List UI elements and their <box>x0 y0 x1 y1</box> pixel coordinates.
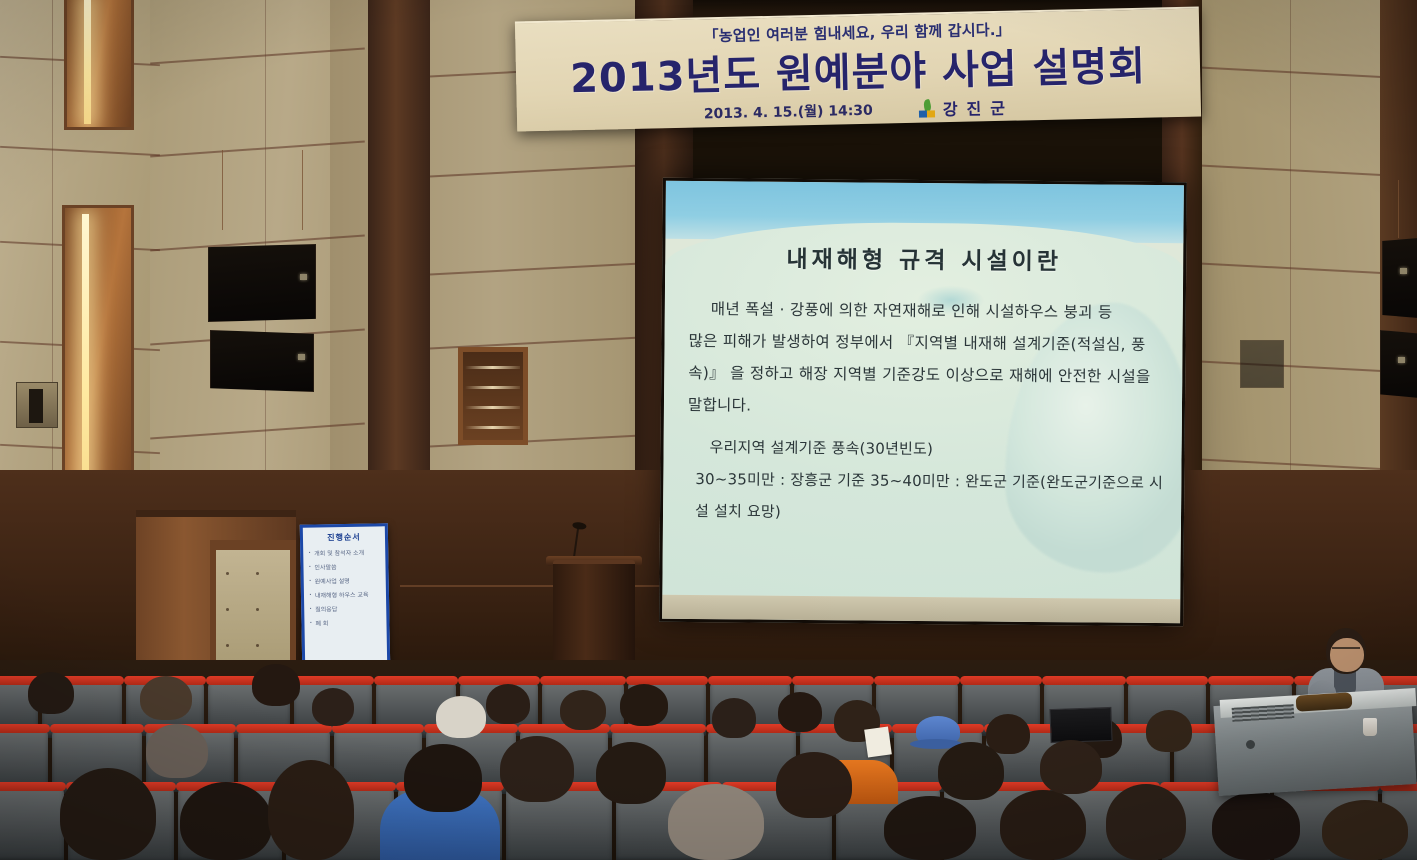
banner-date: 2013. 4. 15.(월) 14:30 <box>704 100 873 124</box>
audience-head <box>312 688 354 726</box>
wall-speaker-small <box>1240 340 1284 388</box>
rear-monitor <box>1049 707 1112 743</box>
program-board-list: 개회 및 참석자 소개 인사말씀 원예사업 설명 내재해형 하우스 교육 질의응… <box>307 546 382 631</box>
audience-handout-paper <box>864 726 892 757</box>
presenter-glasses <box>1332 647 1360 654</box>
line-array-speaker-left <box>208 244 316 322</box>
program-item: 인사말씀 <box>307 560 381 575</box>
audience-head <box>712 698 756 738</box>
audience-head <box>60 768 156 860</box>
program-board-title: 진행순서 <box>307 531 381 543</box>
paper-cup <box>1363 718 1377 736</box>
slide-title: 내재해형 규격 시설이란 <box>665 239 1183 278</box>
audience-head <box>986 714 1030 754</box>
wall-niche-light-upper <box>64 0 134 130</box>
audience-head <box>268 760 354 860</box>
audience-head <box>1322 800 1408 860</box>
audience-head <box>252 664 300 706</box>
audience-head <box>776 752 852 818</box>
audience-head <box>1040 740 1102 794</box>
audience-blue-cap <box>916 716 960 746</box>
audience-head <box>500 736 574 802</box>
audience-head <box>668 784 764 860</box>
audience-head <box>1000 790 1086 860</box>
audience-head <box>140 676 192 720</box>
wall-louver-vent <box>458 347 528 445</box>
speaker-hanging-wire <box>222 150 223 230</box>
audience-head <box>884 796 976 860</box>
niche-light-strip <box>84 0 91 124</box>
audience-head <box>180 782 272 860</box>
audience-head <box>146 724 208 778</box>
organization-label: 강진군 <box>943 95 1015 121</box>
projection-screen-surface: 내재해형 규격 시설이란 매년 폭설 · 강풍에 의한 자연재해로 인해 시설하… <box>659 178 1187 627</box>
banner-organization: 강진군 <box>919 95 1015 121</box>
program-item: 폐 회 <box>308 616 382 631</box>
gangjin-county-logo-icon <box>919 99 935 117</box>
slide-paragraph-line: 많은 피해가 발생하여 정부에서 『지역별 내재해 설계기준(적설심, <box>688 332 1125 354</box>
program-item: 개회 및 참석자 소개 <box>307 546 381 561</box>
speaker-hanging-wire <box>302 150 303 230</box>
niche-light-strip <box>82 214 89 514</box>
audience-head <box>778 692 822 732</box>
presenter-face <box>1330 638 1364 672</box>
line-array-speaker-left <box>210 330 314 392</box>
podium-knob <box>1246 740 1255 749</box>
audience-head <box>938 742 1004 800</box>
wall-control-box <box>16 382 58 428</box>
audience-head <box>560 690 606 730</box>
audience-head <box>596 742 666 804</box>
podium-items <box>1296 692 1353 711</box>
slide-list-heading: 우리지역 설계기준 풍속(30년빈도) <box>695 431 1165 467</box>
line-array-speaker-right <box>1380 330 1417 400</box>
line-array-speaker-right <box>1382 236 1417 320</box>
audience-head-cap <box>436 696 486 738</box>
program-item: 내재해형 하우스 교육 <box>308 588 382 603</box>
event-banner: 「농업인 여러분 힘내세요, 우리 함께 갑시다.」 2013년도 원예분야 사… <box>515 7 1201 132</box>
auditorium-seminar-photo: 「농업인 여러분 힘내세요, 우리 함께 갑시다.」 2013년도 원예분야 사… <box>0 0 1417 860</box>
audience-head <box>1212 792 1300 860</box>
slide-paragraph: 매년 폭설 · 강풍에 의한 자연재해로 인해 시설하우스 붕괴 등 많은 피해… <box>688 293 1167 425</box>
slide-paragraph-line: 매년 폭설 · 강풍에 의한 자연재해로 인해 시설하우스 붕괴 등 <box>689 293 1167 329</box>
audience-head <box>28 672 74 714</box>
audience-head <box>620 684 668 726</box>
speaker-hanging-wire <box>1398 180 1399 238</box>
slide-list-item: 30~35미만 : 장흥군 기준 <box>695 470 865 489</box>
audience-head <box>404 744 482 812</box>
program-order-board: 진행순서 개회 및 참석자 소개 인사말씀 원예사업 설명 내재해형 하우스 교… <box>300 523 390 669</box>
slide-list: 우리지역 설계기준 풍속(30년빈도) 30~35미만 : 장흥군 기준 35~… <box>695 431 1166 531</box>
projection-screen: 내재해형 규격 시설이란 매년 폭설 · 강풍에 의한 자연재해로 인해 시설하… <box>659 178 1187 627</box>
audience-head <box>1106 784 1186 860</box>
slide-content: 내재해형 규격 시설이란 매년 폭설 · 강풍에 의한 자연재해로 인해 시설하… <box>662 181 1184 624</box>
program-item: 원예사업 설명 <box>308 574 382 589</box>
audience-head <box>486 684 530 724</box>
tile-seam <box>52 0 53 520</box>
program-item: 질의응답 <box>308 602 382 617</box>
wainscot-seam <box>400 585 700 587</box>
audience-head <box>1146 710 1192 752</box>
